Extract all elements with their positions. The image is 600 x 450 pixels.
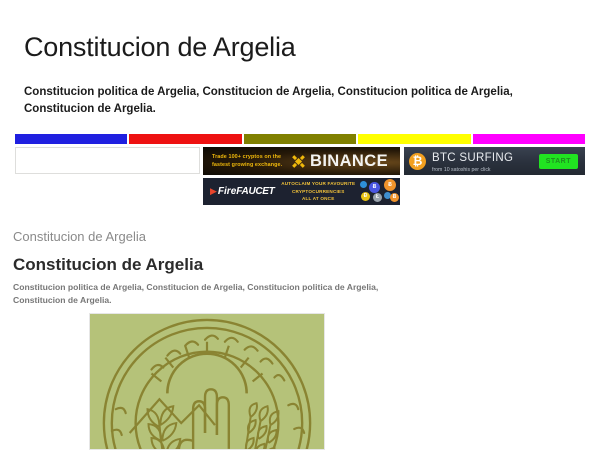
page-title: Constitucion de Argelia	[24, 32, 296, 63]
flame-icon: ▶	[210, 187, 217, 196]
color-segment-olive	[244, 134, 356, 144]
firefaucet-logo: ▶ Fire FAUCET	[210, 187, 274, 197]
color-segment-yellow	[358, 134, 470, 144]
page-subtitle: Constitucion politica de Argelia, Consti…	[24, 84, 576, 117]
article-title: Constitucion de Argelia	[13, 255, 203, 275]
btc-surfing-copy: BTC SURFING from 10 satoshis per click	[432, 148, 539, 174]
crypto-coin-icon	[360, 181, 367, 188]
ad-banner-binance[interactable]: Trade 100+ cryptos on the fastest growin…	[203, 147, 400, 175]
crypto-coin-icon: Ƀ	[384, 179, 396, 191]
article-body: Constitucion politica de Argelia, Consti…	[13, 281, 413, 308]
binance-logo: BINANCE	[292, 153, 388, 170]
color-segment-blue	[15, 134, 127, 144]
algeria-national-emblem-image	[89, 313, 325, 450]
firefaucet-copy: AUTOCLAIM YOUR FAVOURITE CRYPTOCURRENCIE…	[278, 180, 358, 203]
empty-ad-slot[interactable]	[15, 147, 200, 174]
bitcoin-coin-icon: ₿	[409, 153, 426, 170]
firefaucet-copy-line2: CRYPTOCURRENCIES	[278, 188, 358, 196]
binance-tagline: Trade 100+ cryptos on the fastest growin…	[212, 153, 290, 169]
firefaucet-brand-faucet: FAUCET	[236, 187, 274, 197]
firefaucet-coin-icons: Ƀ Ƀ Đ Ł Ƀ	[358, 178, 400, 205]
ad-banner-firefaucet[interactable]: ▶ Fire FAUCET AUTOCLAIM YOUR FAVOURITE C…	[203, 178, 400, 205]
crypto-coin-icon: Ƀ	[369, 182, 380, 193]
emblem-graphic	[90, 314, 324, 450]
btc-surfing-subtitle: from 10 satoshis per click	[432, 167, 539, 174]
color-segment-red	[129, 134, 241, 144]
binance-tagline-line2: fastest growing exchange.	[212, 161, 290, 169]
btc-surfing-start-button[interactable]: START	[539, 154, 578, 169]
binance-wordmark: BINANCE	[310, 153, 388, 170]
color-segment-magenta	[473, 134, 585, 144]
firefaucet-copy-line3: ALL AT ONCE	[278, 195, 358, 203]
ad-banner-btc-surfing[interactable]: ₿ BTC SURFING from 10 satoshis per click…	[404, 147, 585, 175]
binance-diamond-icon	[289, 152, 307, 170]
breadcrumb: Constitucion de Argelia	[13, 229, 146, 244]
btc-surfing-title: BTC SURFING	[432, 152, 513, 164]
firefaucet-brand-fire: Fire	[218, 187, 236, 197]
firefaucet-copy-line1: AUTOCLAIM YOUR FAVOURITE	[278, 180, 358, 188]
color-strip	[15, 134, 585, 144]
crypto-coin-icon: Đ	[361, 192, 370, 201]
crypto-coin-icon: Ƀ	[390, 193, 399, 202]
binance-tagline-line1: Trade 100+ cryptos on the	[212, 153, 290, 161]
crypto-coin-icon: Ł	[373, 193, 382, 202]
